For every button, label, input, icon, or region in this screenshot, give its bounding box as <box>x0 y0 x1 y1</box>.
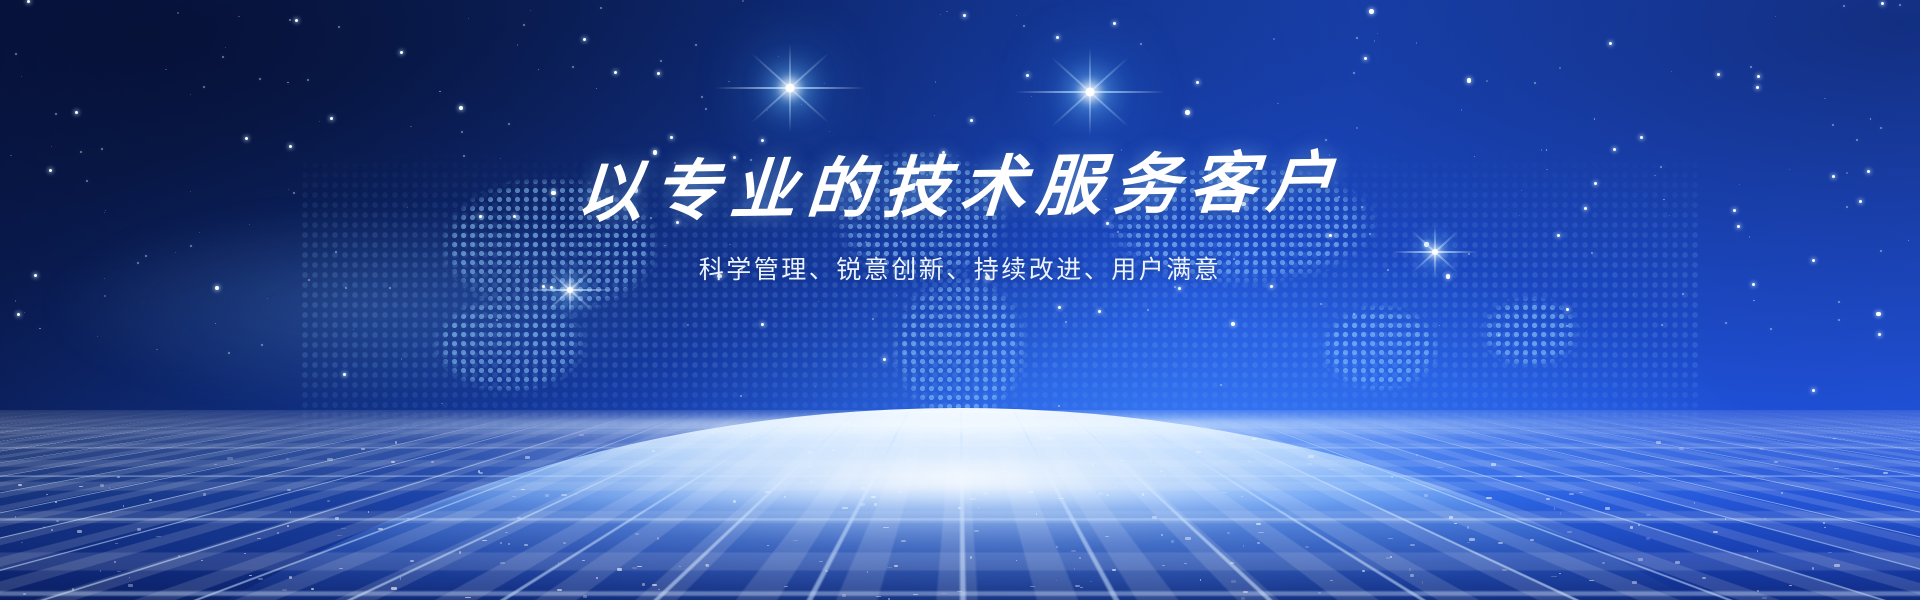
star-icon <box>1377 33 1378 34</box>
star-icon <box>1178 287 1181 290</box>
city-light-icon <box>1409 568 1410 571</box>
star-icon <box>215 323 216 324</box>
star-icon <box>517 44 518 45</box>
city-light-icon <box>563 542 566 544</box>
city-light-icon <box>1834 564 1840 566</box>
city-light-icon <box>100 570 102 572</box>
star-icon <box>55 113 57 115</box>
city-light-icon <box>1702 577 1706 579</box>
city-light-icon <box>1105 536 1108 537</box>
city-light-icon <box>974 530 980 532</box>
city-light-icon <box>72 588 75 590</box>
star-icon <box>742 0 743 1</box>
star-icon <box>1147 309 1149 311</box>
star-icon <box>165 69 166 70</box>
city-light-icon <box>1675 561 1681 564</box>
city-light-icon <box>1638 558 1643 561</box>
star-icon <box>1231 322 1236 327</box>
star-icon <box>225 47 226 48</box>
star-icon <box>538 69 539 70</box>
star-icon <box>1870 118 1871 119</box>
star-icon <box>572 66 574 68</box>
city-light-icon <box>289 576 292 579</box>
city-light-icon <box>1257 542 1260 544</box>
star-icon <box>596 88 597 89</box>
city-light-icon <box>887 567 892 568</box>
city-light-icon <box>1759 448 1764 449</box>
star-icon <box>1467 78 1472 83</box>
city-light-icon <box>128 584 134 587</box>
star-icon <box>977 324 978 325</box>
star-icon <box>1661 324 1663 326</box>
star-icon <box>222 56 224 58</box>
city-light-icon <box>1551 576 1556 577</box>
star-icon <box>289 19 291 21</box>
banner-subline: 科学管理、锐意创新、持续改进、用户满意 <box>0 250 1920 286</box>
star-icon <box>1113 22 1116 25</box>
city-light-icon <box>1602 562 1605 563</box>
star-icon <box>1838 301 1840 303</box>
star-icon <box>824 83 825 84</box>
star-icon <box>1364 57 1367 60</box>
star-icon <box>1320 303 1322 305</box>
star-icon <box>15 300 16 301</box>
star-icon <box>353 329 354 330</box>
star-icon <box>319 121 320 122</box>
city-light-icon <box>100 484 104 487</box>
star-icon <box>778 56 779 57</box>
star-icon <box>1838 319 1840 321</box>
star-icon <box>1812 389 1815 392</box>
star-icon <box>1566 308 1569 311</box>
star-icon <box>39 328 40 329</box>
star-icon <box>614 71 617 74</box>
city-light-icon <box>913 594 918 595</box>
star-icon <box>1374 40 1375 41</box>
city-light-icon <box>137 528 141 530</box>
city-light-icon <box>123 505 125 507</box>
horizon-line <box>30 412 1890 438</box>
city-light-icon <box>1757 550 1758 552</box>
city-light-icon <box>46 494 48 495</box>
star-icon <box>963 14 966 17</box>
star-icon <box>461 131 463 133</box>
city-light-icon <box>1467 542 1471 543</box>
star-icon <box>261 344 263 346</box>
city-light-icon <box>679 566 681 567</box>
city-light-icon <box>500 562 504 564</box>
star-icon <box>530 10 531 11</box>
star-icon <box>1725 322 1727 324</box>
city-light-icon <box>203 493 206 496</box>
city-light-icon <box>178 555 180 556</box>
star-icon <box>1824 98 1825 99</box>
star-icon <box>1369 9 1374 14</box>
city-light-icon <box>1410 574 1415 577</box>
star-icon <box>523 24 525 26</box>
star-icon <box>970 119 973 122</box>
star-icon <box>946 11 947 12</box>
star-icon <box>701 96 703 98</box>
city-light-icon <box>156 536 161 537</box>
star-icon <box>1640 136 1643 139</box>
star-icon <box>295 19 298 22</box>
star-icon <box>940 14 941 15</box>
star-icon <box>245 137 248 140</box>
star-icon <box>343 373 346 376</box>
city-light-icon <box>901 540 906 541</box>
city-light-icon <box>1498 542 1503 543</box>
star-icon <box>1534 82 1536 84</box>
star-icon <box>468 18 469 19</box>
star-icon <box>1843 5 1845 7</box>
star-icon <box>401 358 402 359</box>
star-icon <box>51 146 52 147</box>
city-light-icon <box>1632 581 1637 584</box>
star-icon <box>1682 293 1684 295</box>
star-icon <box>24 312 25 313</box>
star-icon <box>1671 71 1672 72</box>
city-light-icon <box>1171 540 1175 542</box>
city-light-icon <box>21 542 23 543</box>
city-light-icon <box>1559 573 1561 574</box>
city-light-icon <box>339 568 344 570</box>
star-icon <box>215 286 220 291</box>
city-light-icon <box>1258 532 1264 533</box>
city-light-icon <box>1231 580 1236 583</box>
star-icon <box>1026 74 1029 77</box>
star-icon <box>670 136 673 139</box>
star-icon <box>1196 81 1199 84</box>
city-light-icon <box>1823 522 1825 524</box>
star-icon <box>203 86 205 88</box>
city-light-icon <box>617 568 622 571</box>
star-icon <box>1220 384 1222 386</box>
star-icon <box>17 313 20 316</box>
star-icon <box>1881 2 1884 5</box>
city-light-icon <box>1589 580 1593 582</box>
star-icon <box>289 145 292 148</box>
star-icon <box>345 287 347 289</box>
flare-core-icon <box>1086 88 1095 97</box>
city-light-icon <box>1243 591 1249 592</box>
star-icon <box>1566 325 1568 327</box>
flare-core-icon <box>567 287 573 293</box>
city-light-icon <box>657 537 659 540</box>
city-light-icon <box>1200 579 1201 581</box>
star-icon <box>1016 15 1017 16</box>
city-light-icon <box>1185 537 1191 539</box>
city-light-icon <box>583 595 587 598</box>
city-light-icon <box>1318 592 1320 594</box>
star-icon <box>400 51 403 54</box>
city-light-icon <box>1567 531 1572 533</box>
star-icon <box>104 295 105 296</box>
city-light-icon <box>1744 556 1748 558</box>
star-icon <box>97 336 98 337</box>
star-icon <box>1065 321 1067 323</box>
star-icon <box>1023 25 1025 27</box>
city-light-icon <box>970 556 972 559</box>
star-icon <box>818 301 819 302</box>
star-icon <box>1439 325 1440 326</box>
star-icon <box>1586 331 1587 332</box>
city-light-icon <box>1762 597 1767 599</box>
star-icon <box>439 91 440 92</box>
star-icon <box>267 298 268 299</box>
star-icon <box>883 358 886 361</box>
star-icon <box>307 79 309 81</box>
star-icon <box>1185 110 1190 115</box>
star-icon <box>935 81 936 82</box>
city-light-icon <box>632 567 637 569</box>
star-icon <box>1356 127 1357 128</box>
star-icon <box>338 26 340 28</box>
star-icon <box>508 123 510 125</box>
star-icon <box>1031 96 1032 97</box>
star-icon <box>330 117 333 120</box>
star-icon <box>660 60 662 62</box>
star-icon <box>1461 109 1462 110</box>
star-icon <box>75 111 78 114</box>
city-light-icon <box>635 533 639 535</box>
star-icon <box>1832 124 1834 126</box>
city-light-icon <box>1386 557 1390 559</box>
star-icon <box>695 44 697 46</box>
city-light-icon <box>1883 472 1888 474</box>
city-light-icon <box>1090 581 1092 582</box>
star-icon <box>1609 42 1612 45</box>
star-icon <box>583 38 586 41</box>
city-light-icon <box>642 583 645 586</box>
star-icon <box>740 395 742 397</box>
city-light-icon <box>557 589 563 591</box>
city-light-icon <box>114 561 116 563</box>
star-icon <box>1717 73 1720 76</box>
star-icon <box>190 94 191 95</box>
star-icon <box>906 310 907 311</box>
star-icon <box>1353 72 1355 74</box>
star-icon <box>1056 36 1059 39</box>
star-icon <box>1756 86 1759 89</box>
star-icon <box>1750 66 1752 68</box>
city-light-icon <box>819 561 823 563</box>
star-icon <box>934 115 935 116</box>
city-light-icon <box>825 570 829 573</box>
star-icon <box>1594 118 1595 119</box>
star-icon <box>801 104 802 105</box>
star-icon <box>1058 306 1061 309</box>
city-light-icon <box>1030 586 1035 587</box>
star-icon <box>600 7 602 9</box>
star-icon <box>657 72 660 75</box>
star-icon <box>761 323 764 326</box>
star-icon <box>1876 312 1881 317</box>
star-icon <box>389 287 391 289</box>
hero-banner: 以专业的技术服务客户 科学管理、锐意创新、持续改进、用户满意 <box>0 0 1920 600</box>
city-light-icon <box>18 484 22 487</box>
city-light-icon <box>115 543 118 544</box>
star-icon <box>21 76 22 77</box>
star-icon <box>27 0 30 3</box>
star-icon <box>728 81 729 82</box>
city-light-icon <box>596 577 598 579</box>
city-light-icon <box>117 476 121 478</box>
star-icon <box>1878 333 1881 336</box>
city-light-icon <box>1071 550 1076 552</box>
city-light-icon <box>1075 585 1080 587</box>
city-light-icon <box>109 487 111 489</box>
city-light-icon <box>1502 569 1507 571</box>
city-light-icon <box>459 551 461 554</box>
city-light-icon <box>652 584 657 586</box>
star-icon <box>1880 127 1882 129</box>
star-icon <box>177 12 178 13</box>
star-icon <box>1498 334 1500 336</box>
star-icon <box>1325 139 1327 141</box>
city-light-icon <box>1834 468 1839 470</box>
star-icon <box>15 53 17 55</box>
city-light-icon <box>1243 545 1244 547</box>
city-light-icon <box>1305 546 1309 548</box>
star-icon <box>228 352 230 354</box>
star-icon <box>287 82 288 83</box>
city-light-icon <box>637 566 642 568</box>
star-icon <box>1633 294 1634 295</box>
star-icon <box>1028 71 1029 72</box>
star-icon <box>259 78 261 80</box>
star-icon <box>1770 328 1772 330</box>
city-light-icon <box>391 587 396 590</box>
star-icon <box>1486 80 1487 81</box>
star-icon <box>1098 310 1101 313</box>
banner-headline: 以专业的技术服务客户 <box>0 137 1920 242</box>
star-icon <box>1899 4 1901 6</box>
star-icon <box>687 324 688 325</box>
star-icon <box>761 139 764 142</box>
city-light-icon <box>282 589 287 591</box>
star-icon <box>1757 75 1760 78</box>
star-icon <box>1753 300 1754 301</box>
city-light-icon <box>77 530 82 532</box>
star-icon <box>1559 67 1560 68</box>
city-light-icon <box>201 560 203 561</box>
city-light-icon <box>1469 538 1475 541</box>
flare-core-icon <box>786 84 795 93</box>
star-icon <box>1775 16 1776 17</box>
star-icon <box>896 295 897 296</box>
star-icon <box>1353 313 1355 315</box>
city-light-icon <box>1713 531 1718 533</box>
star-icon <box>705 108 707 110</box>
city-light-icon <box>1646 537 1651 540</box>
star-icon <box>459 106 464 111</box>
star-icon <box>872 318 874 320</box>
star-icon <box>1416 42 1417 43</box>
banner-copy: 以专业的技术服务客户 科学管理、锐意创新、持续改进、用户满意 <box>0 150 1920 286</box>
star-icon <box>1273 38 1274 39</box>
star-icon <box>829 131 830 132</box>
star-icon <box>238 16 239 17</box>
star-icon <box>815 386 816 387</box>
city-light-icon <box>842 594 846 597</box>
city-light-icon <box>888 598 891 600</box>
star-icon <box>496 319 498 321</box>
star-icon <box>1356 37 1358 39</box>
star-icon <box>156 349 157 350</box>
star-icon <box>1140 43 1142 45</box>
city-light-icon <box>1774 461 1778 463</box>
star-icon <box>1277 103 1278 104</box>
city-light-icon <box>524 544 528 547</box>
star-icon <box>410 126 411 127</box>
